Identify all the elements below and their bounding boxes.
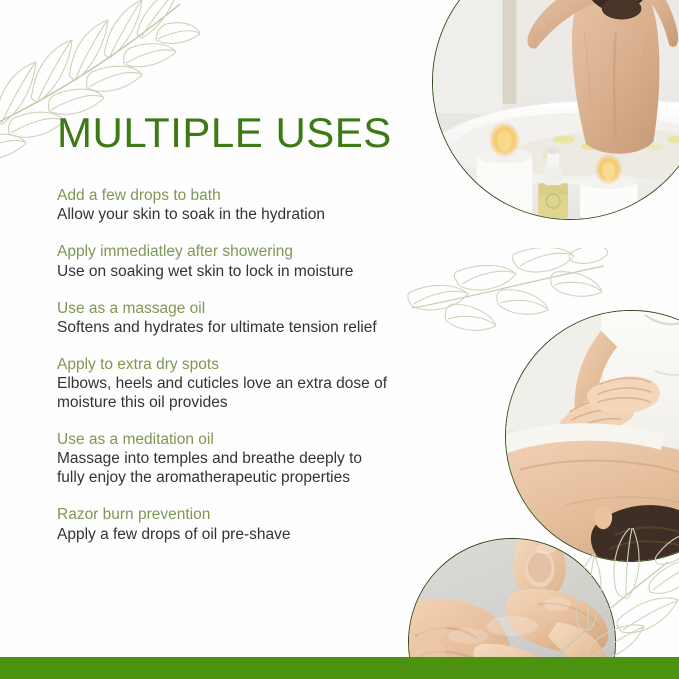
use-body: Softens and hydrates for ultimate tensio… (57, 319, 437, 338)
bottom-accent-bar (0, 657, 679, 679)
use-body: Apply a few drops of oil pre-shave (57, 526, 437, 545)
use-item: Razor burn prevention Apply a few drops … (57, 505, 437, 544)
use-item: Apply immediatley after showering Use on… (57, 242, 437, 281)
use-heading: Use as a massage oil (57, 299, 437, 318)
use-heading: Razor burn prevention (57, 505, 437, 524)
use-body: Allow your skin to soak in the hydration (57, 206, 437, 225)
use-heading: Use as a meditation oil (57, 430, 437, 449)
use-item: Add a few drops to bath Allow your skin … (57, 186, 437, 225)
use-item: Use as a meditation oil Massage into tem… (57, 430, 437, 488)
use-body: Massage into temples and breathe deeply … (57, 450, 437, 488)
use-heading: Add a few drops to bath (57, 186, 437, 205)
page-title: MULTIPLE USES (57, 112, 437, 154)
photo-back-massage (505, 310, 679, 562)
use-body: Elbows, heels and cuticles love an extra… (57, 375, 437, 413)
uses-content: MULTIPLE USES Add a few drops to bath Al… (57, 112, 437, 545)
multiple-uses-infographic: MULTIPLE USES Add a few drops to bath Al… (0, 0, 679, 679)
photo-woman-in-bath (432, 0, 679, 220)
use-heading: Apply to extra dry spots (57, 355, 437, 374)
use-heading: Apply immediatley after showering (57, 242, 437, 261)
use-item: Apply to extra dry spots Elbows, heels a… (57, 355, 437, 413)
use-item: Use as a massage oil Softens and hydrate… (57, 299, 437, 338)
use-body: Use on soaking wet skin to lock in moist… (57, 263, 437, 282)
